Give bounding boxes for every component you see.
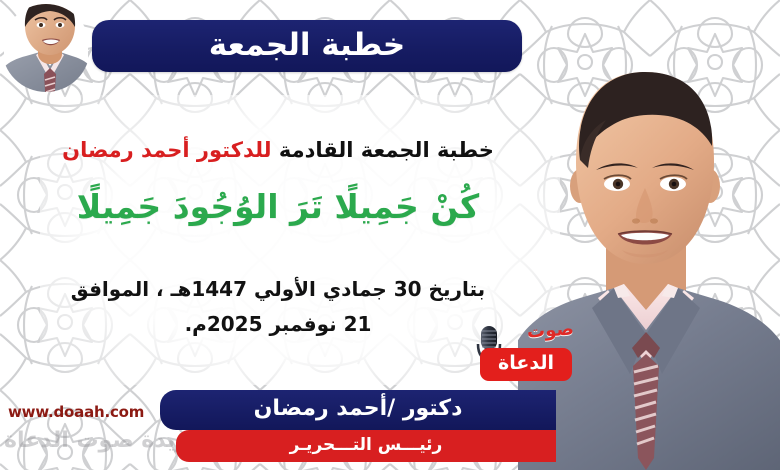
website-url[interactable]: www.doaah.com (8, 403, 144, 421)
next-sermon-line: خطبة الجمعة القادمة للدكتور أحمد رمضان (0, 138, 556, 162)
logo-pill: الدعاة (480, 348, 572, 381)
sawt-aldoaah-logo: صوت الدعاة (472, 320, 576, 386)
speaker-main-photo (518, 58, 780, 470)
editor-role-bar: رئيـــس التـــحريـر (176, 430, 556, 462)
editor-name-bar: دكتور /أحمد رمضان (160, 390, 556, 430)
next-sermon-label: خطبة الجمعة القادمة (279, 138, 494, 162)
editor-role: رئيـــس التـــحريـر (290, 437, 443, 454)
page-title: خطبة الجمعة (209, 30, 405, 61)
sermon-headline: كُنْ جَمِيلًا تَرَ الوُجُودَ جَمِيلًا (0, 186, 556, 227)
friday-sermon-poster: خطبة الجمعة خطبة الجمعة القادمة للدكتور … (0, 0, 780, 470)
hijri-date-line: بتاريخ 30 جمادي الأولي 1447هـ ، الموافق (0, 272, 556, 307)
editor-name: دكتور /أحمد رمضان (254, 398, 463, 420)
logo-word-top: صوت (527, 320, 575, 341)
page-title-banner: خطبة الجمعة (92, 20, 522, 72)
avatar (4, 2, 88, 106)
logo-word-bottom: الدعاة (498, 354, 554, 373)
next-sermon-author: للدكتور أحمد رمضان (62, 138, 271, 162)
